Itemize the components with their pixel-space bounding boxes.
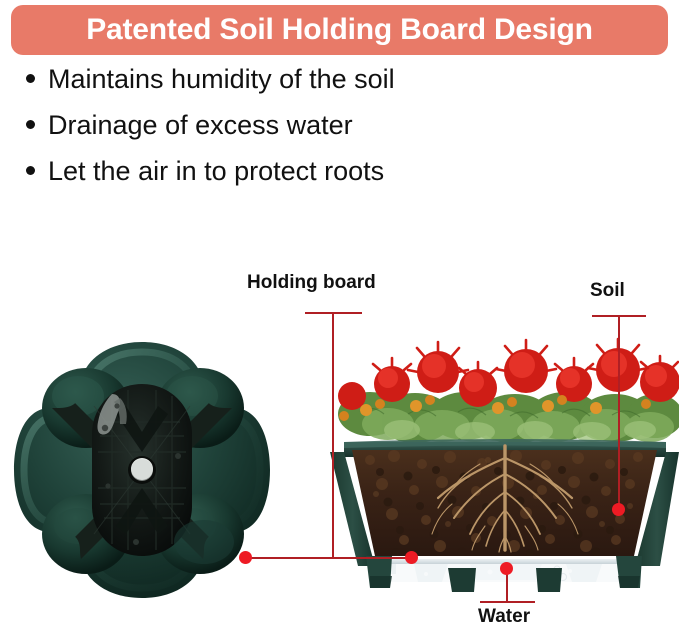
leader-line-soil — [618, 315, 620, 510]
product-diagram: Holding board Soil Water — [0, 0, 679, 638]
leader-branch-right — [332, 557, 412, 559]
callout-label-water: Water — [478, 606, 530, 628]
marker-dot-water — [500, 562, 513, 575]
infographic-page: Patented Soil Holding Board Design Maint… — [0, 0, 679, 638]
holding-board-product-photo — [8, 336, 276, 604]
holding-board-graphic — [8, 336, 276, 604]
callout-label-soil: Soil — [590, 280, 625, 302]
leader-line-holding-board — [332, 312, 334, 558]
callout-label-holding-board: Holding board — [247, 272, 376, 294]
marker-dot-holding-board-left — [239, 551, 252, 564]
marker-dot-soil — [612, 503, 625, 516]
marker-dot-holding-board-right — [405, 551, 418, 564]
planter-foot — [536, 568, 562, 592]
leader-branch-left — [245, 557, 334, 559]
planter-foot — [448, 568, 476, 592]
